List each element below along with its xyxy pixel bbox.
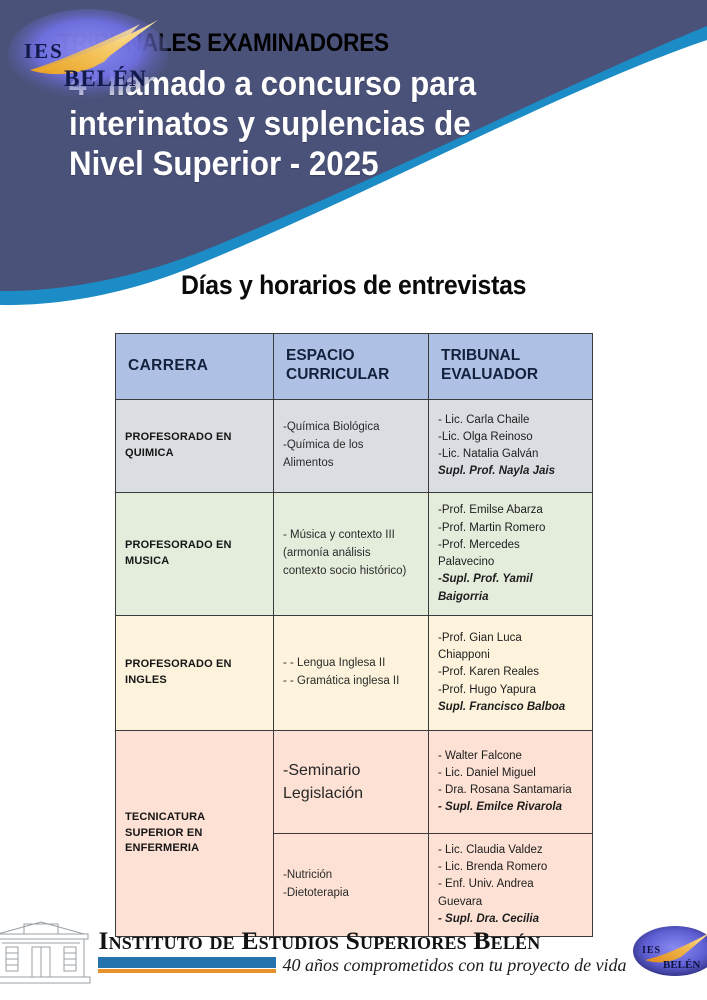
space-line: contexto socio histórico): [283, 563, 419, 581]
table-row: TECNICATURA SUPERIOR EN ENFERMERIA -Semi…: [116, 731, 593, 834]
col-header-espacio-curricular: ESPACIO CURRICULAR: [274, 334, 429, 400]
panel-cell-ingles: -Prof. Gian Luca Chiapponi -Prof. Karen …: [429, 616, 593, 731]
space-cell-enfermeria-seminario: -Seminario Legislación: [274, 731, 429, 834]
space-line: -Dietoterapia: [283, 885, 419, 903]
footer-logo-text-ies: IES: [642, 945, 661, 956]
col-header-tribunal-line2: EVALUADOR: [441, 366, 538, 383]
space-cell-ingles: - - Lengua Inglesa II - - Gramática ingl…: [274, 616, 429, 731]
panel-substitute: - Supl. Emilce Rivarola: [438, 799, 583, 816]
career-line: PROFESORADO EN: [125, 657, 264, 673]
career-line: ENFERMERIA: [125, 841, 264, 857]
career-line: PROFESORADO EN: [125, 538, 264, 554]
panel-substitute: -Supl. Prof. Yamil: [438, 571, 583, 588]
panel-substitute: Supl. Prof. Nayla Jais: [438, 463, 583, 480]
panel-cell-musica: -Prof. Emilse Abarza -Prof. Martin Romer…: [429, 493, 593, 616]
footer: Instituto de Estudios Superiores Belén 4…: [0, 908, 707, 994]
space-line: - - Gramática inglesa II: [283, 673, 419, 691]
space-line: - Música y contexto III: [283, 527, 419, 545]
logo-text-ies: IES: [24, 39, 64, 63]
footer-logo-text-belen: BELÉN: [663, 959, 700, 971]
career-cell-musica: PROFESORADO EN MUSICA: [116, 493, 274, 616]
subtitle-text: Días y horarios de entrevistas: [181, 270, 526, 301]
panel-line: -Prof. Hugo Yapura: [438, 682, 583, 699]
career-line: MUSICA: [125, 554, 264, 570]
panel-cell-enfermeria-seminario: - Walter Falcone - Lic. Daniel Miguel - …: [429, 731, 593, 834]
space-line: - - Lengua Inglesa II: [283, 655, 419, 673]
panel-line: - Dra. Rosana Santamaria: [438, 782, 583, 799]
col-header-espacio-line1: ESPACIO: [286, 347, 355, 364]
table-body: PROFESORADO EN QUIMICA -Química Biológic…: [116, 400, 593, 937]
career-line: PROFESORADO EN: [125, 430, 264, 446]
panel-line: Chiapponi: [438, 647, 583, 664]
bar-blue: [98, 957, 276, 968]
footer-color-bars: [98, 957, 276, 973]
ies-belen-logo-footer: IES BELÉN: [631, 923, 707, 979]
table-row: PROFESORADO EN QUIMICA -Química Biológic…: [116, 400, 593, 493]
panel-substitute: Supl. Francisco Balboa: [438, 699, 583, 716]
building-icon: [0, 915, 94, 987]
space-line: Alimentos: [283, 455, 419, 473]
col-header-carrera: CARRERA: [116, 334, 274, 400]
panel-line: -Prof. Martin Romero: [438, 520, 583, 537]
space-line: Legislación: [283, 782, 419, 805]
logo-text-belen: BELÉN: [64, 66, 147, 91]
career-cell-enfermeria: TECNICATURA SUPERIOR EN ENFERMERIA: [116, 731, 274, 937]
col-header-tribunal-line1: TRIBUNAL: [441, 347, 520, 364]
table-head: CARRERA ESPACIO CURRICULAR TRIBUNAL EVAL…: [116, 334, 593, 400]
panel-line: Palavecino: [438, 554, 583, 571]
career-line: INGLES: [125, 673, 264, 689]
panel-line: -Lic. Olga Reinoso: [438, 429, 583, 446]
space-cell-musica: - Música y contexto III (armonía análisi…: [274, 493, 429, 616]
footer-text-block: Instituto de Estudios Superiores Belén 4…: [98, 928, 626, 975]
poster-page: TRIBUNALES EXAMINADORES 4° llamado a con…: [0, 0, 707, 1000]
panel-line: - Enf. Univ. Andrea: [438, 876, 583, 893]
panel-line: -Prof. Emilse Abarza: [438, 502, 583, 519]
space-line: -Química de los: [283, 437, 419, 455]
career-cell-quimica: PROFESORADO EN QUIMICA: [116, 400, 274, 493]
panel-line: - Lic. Daniel Miguel: [438, 765, 583, 782]
schedule-table: CARRERA ESPACIO CURRICULAR TRIBUNAL EVAL…: [115, 333, 593, 937]
table-row: PROFESORADO EN INGLES - - Lengua Inglesa…: [116, 616, 593, 731]
space-cell-quimica: -Química Biológica -Química de los Alime…: [274, 400, 429, 493]
headline-line-2: interinatos y suplencias de: [69, 104, 490, 144]
subtitle-block: Días y horarios de entrevistas: [0, 270, 707, 301]
panel-line: - Lic. Carla Chaile: [438, 412, 583, 429]
space-line: -Seminario: [283, 759, 419, 782]
institution-name: Instituto de Estudios Superiores Belén: [98, 928, 626, 954]
panel-substitute: Baigorria: [438, 589, 583, 606]
panel-line: - Walter Falcone: [438, 748, 583, 765]
career-line: SUPERIOR EN: [125, 826, 264, 842]
schedule-table-wrap: CARRERA ESPACIO CURRICULAR TRIBUNAL EVAL…: [115, 333, 592, 937]
table-row: PROFESORADO EN MUSICA - Música y context…: [116, 493, 593, 616]
panel-cell-quimica: - Lic. Carla Chaile -Lic. Olga Reinoso -…: [429, 400, 593, 493]
footer-bar-row: 40 años comprometidos con tu proyecto de…: [98, 956, 626, 974]
table-header-row: CARRERA ESPACIO CURRICULAR TRIBUNAL EVAL…: [116, 334, 593, 400]
col-header-tribunal-evaluador: TRIBUNAL EVALUADOR: [429, 334, 593, 400]
panel-line: -Prof. Mercedes: [438, 537, 583, 554]
footer-tagline: 40 años comprometidos con tu proyecto de…: [282, 956, 626, 974]
space-line: (armonía análisis: [283, 545, 419, 563]
panel-line: -Lic. Natalia Galván: [438, 446, 583, 463]
career-line: QUIMICA: [125, 446, 264, 462]
space-line: -Química Biológica: [283, 419, 419, 437]
panel-line: -Prof. Karen Reales: [438, 664, 583, 681]
headline-line-3: Nivel Superior - 2025: [69, 144, 490, 184]
space-line: -Nutrición: [283, 867, 419, 885]
career-line: TECNICATURA: [125, 810, 264, 826]
panel-line: -Prof. Gian Luca: [438, 630, 583, 647]
bar-orange: [98, 969, 276, 973]
career-cell-ingles: PROFESORADO EN INGLES: [116, 616, 274, 731]
panel-line: - Lic. Brenda Romero: [438, 859, 583, 876]
panel-line: - Lic. Claudia Valdez: [438, 842, 583, 859]
ies-belen-logo-header: IES BELÉN: [0, 0, 175, 110]
col-header-espacio-line2: CURRICULAR: [286, 366, 389, 383]
